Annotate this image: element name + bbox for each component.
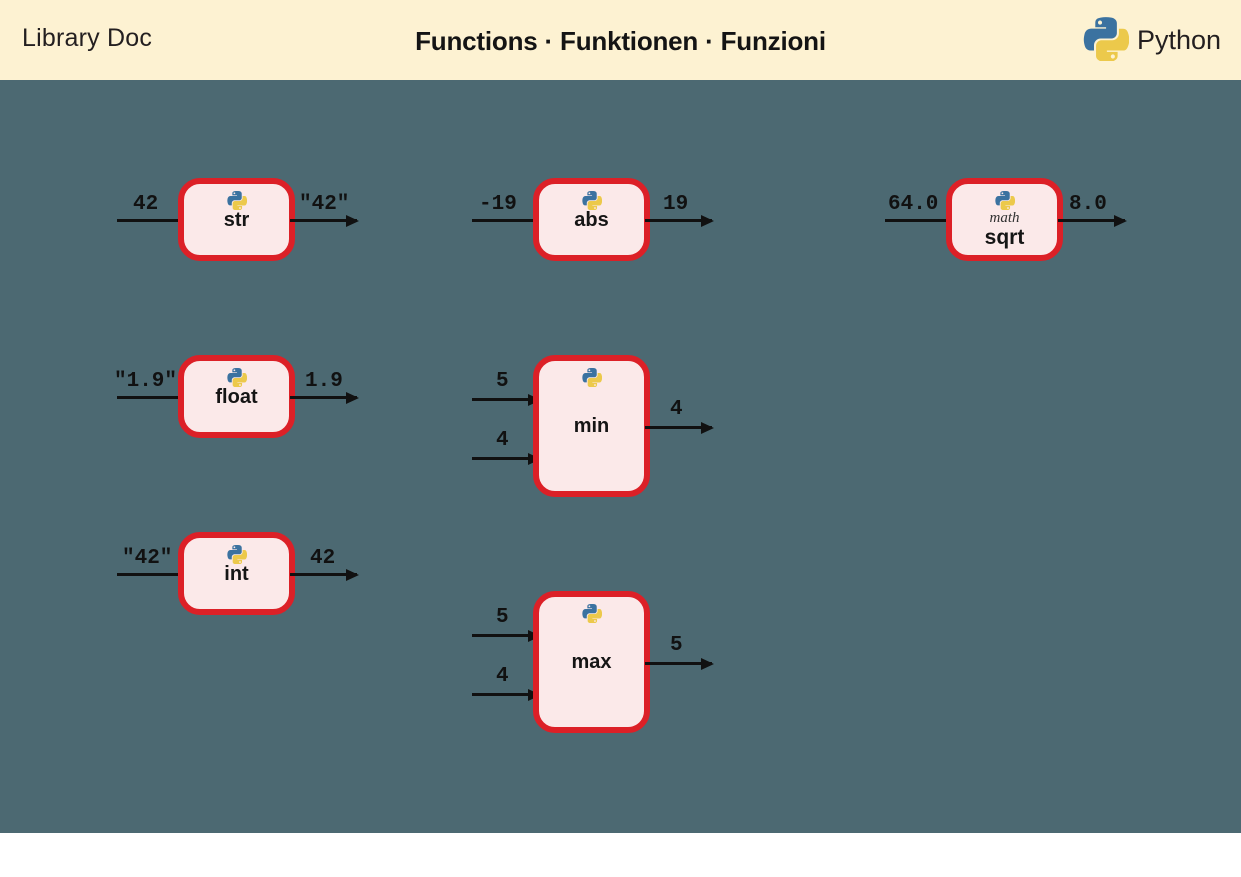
- arrow-label-output-float: 1.9: [305, 370, 343, 393]
- function-name-max: max: [571, 651, 611, 673]
- arrow-label-output-abs: 19: [663, 193, 688, 216]
- arrow-label-output-sqrt: 8.0: [1069, 193, 1107, 216]
- function-box-str[interactable]: str: [178, 178, 295, 261]
- arrow-label-output-max: 5: [670, 634, 683, 657]
- arrow-label-input-sqrt: 64.0: [888, 193, 938, 216]
- arrow-input-max-1: [472, 634, 539, 637]
- arrow-label-output-int: 42: [310, 547, 335, 570]
- function-box-sqrt[interactable]: math sqrt: [946, 178, 1063, 261]
- function-box-int[interactable]: int: [178, 532, 295, 615]
- python-logo-icon: [1083, 15, 1129, 66]
- arrow-output-sqrt: [1058, 219, 1125, 222]
- slide-canvas: Library Doc Functions · Funktionen · Fun…: [0, 0, 1241, 877]
- arrow-label-output-min: 4: [670, 398, 683, 421]
- python-logo-icon: [995, 190, 1015, 215]
- python-logo-icon: [582, 367, 602, 392]
- arrow-label-input-min-1: 5: [496, 370, 509, 393]
- arrow-output-int: [290, 573, 357, 576]
- arrow-label-input-abs: -19: [479, 193, 517, 216]
- arrow-output-str: [290, 219, 357, 222]
- python-logo-icon: [227, 190, 247, 215]
- arrow-label-input-max-1: 5: [496, 606, 509, 629]
- function-box-max[interactable]: max: [533, 591, 650, 733]
- arrow-input-min-1: [472, 398, 539, 401]
- arrow-label-input-str: 42: [133, 193, 158, 216]
- arrow-output-max: [645, 662, 712, 665]
- slide-footer: Version 2, September 2024 LuCE Lugano Co…: [0, 833, 1241, 877]
- arrow-output-abs: [645, 219, 712, 222]
- python-logo-icon: [227, 544, 247, 569]
- python-logo-icon: [227, 367, 247, 392]
- function-box-abs[interactable]: abs: [533, 178, 650, 261]
- header-divider: [0, 80, 1241, 84]
- slide-header: Library Doc Functions · Funktionen · Fun…: [0, 0, 1241, 80]
- arrow-label-input-min-2: 4: [496, 429, 509, 452]
- function-name-min: min: [574, 415, 610, 437]
- function-name-sqrt: sqrt: [985, 227, 1025, 249]
- python-logo-icon: [582, 190, 602, 215]
- function-box-min[interactable]: min: [533, 355, 650, 497]
- function-box-float[interactable]: float: [178, 355, 295, 438]
- python-brand: Python: [1083, 16, 1221, 64]
- arrow-label-input-float: "1.9": [114, 370, 177, 393]
- arrow-input-max-2: [472, 693, 539, 696]
- arrow-label-input-int: "42": [122, 547, 172, 570]
- page-title: Functions · Funktionen · Funzioni: [0, 26, 1241, 57]
- arrow-label-input-max-2: 4: [496, 665, 509, 688]
- arrow-label-output-str: "42": [299, 193, 349, 216]
- python-logo-icon: [582, 603, 602, 628]
- arrow-output-min: [645, 426, 712, 429]
- python-brand-label: Python: [1137, 25, 1221, 56]
- arrow-output-float: [290, 396, 357, 399]
- arrow-input-min-2: [472, 457, 539, 460]
